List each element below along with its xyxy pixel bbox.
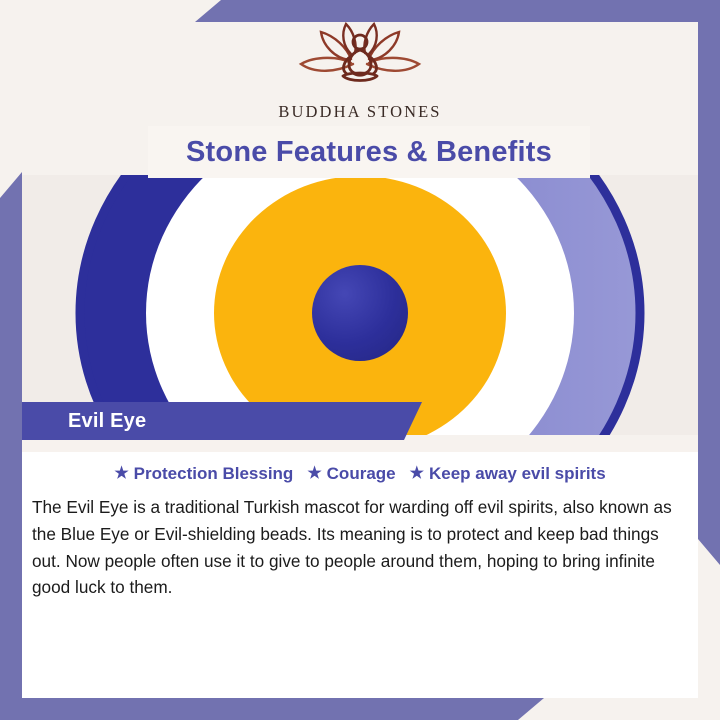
star-icon: ★ xyxy=(410,466,424,482)
product-feature-card: BUDDHA STONES Stone Features & Benefits xyxy=(0,0,720,720)
hero-image xyxy=(22,175,698,435)
star-icon: ★ xyxy=(307,466,321,482)
benefit-item: ★ Protection Blessing xyxy=(114,464,293,484)
lotus-meditation-icon xyxy=(285,20,435,96)
description-text: The Evil Eye is a traditional Turkish ma… xyxy=(32,494,692,601)
benefits-list: ★ Protection Blessing ★ Courage ★ Keep a… xyxy=(22,464,698,484)
benefit-item: ★ Keep away evil spirits xyxy=(410,464,606,484)
benefit-label: Courage xyxy=(327,464,396,484)
frame-border-left xyxy=(0,172,22,720)
description-panel: ★ Protection Blessing ★ Courage ★ Keep a… xyxy=(22,440,698,698)
benefit-label: Keep away evil spirits xyxy=(429,464,606,484)
category-label: Evil Eye xyxy=(22,410,146,433)
page-title-band: Stone Features & Benefits xyxy=(148,126,590,178)
frame-border-bottom xyxy=(0,698,544,720)
brand-logo: BUDDHA STONES xyxy=(0,20,720,122)
category-banner: Evil Eye xyxy=(22,402,422,440)
star-icon: ★ xyxy=(114,466,128,482)
panel-top-strip xyxy=(22,440,698,452)
benefit-item: ★ Courage xyxy=(307,464,395,484)
frame-border-top xyxy=(195,0,720,22)
evil-eye-illustration xyxy=(22,175,698,435)
benefit-label: Protection Blessing xyxy=(134,464,294,484)
brand-name: BUDDHA STONES xyxy=(278,102,441,122)
page-title: Stone Features & Benefits xyxy=(186,136,552,169)
